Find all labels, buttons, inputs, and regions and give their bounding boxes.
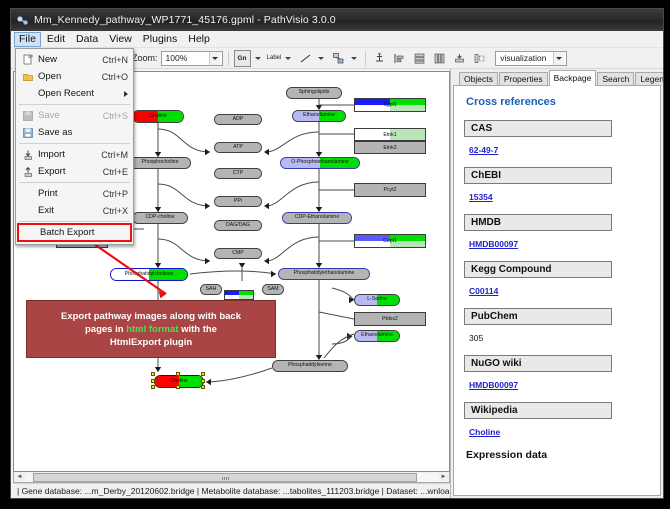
menu-item-label: Batch Export (40, 227, 126, 238)
xref-link[interactable]: Choline (469, 427, 500, 437)
menu-item-accelerator: Ctrl+O (102, 72, 133, 82)
menu-item-accelerator: Ctrl+N (102, 55, 133, 65)
backpage-content: Cross references CAS62-49-7ChEBI15354HMD… (454, 86, 660, 495)
xref-entry: PubChem305 (464, 308, 660, 346)
tab-search[interactable]: Search (597, 72, 634, 86)
save-as-icon (18, 127, 38, 139)
expression-data-title: Expression data (466, 449, 660, 461)
file-menu-item-save-as[interactable]: Save as (16, 124, 133, 141)
file-menu-item-import[interactable]: ImportCtrl+M (16, 146, 133, 163)
align-columns-tool-icon[interactable] (431, 50, 448, 67)
menu-separator (19, 104, 130, 105)
scroll-left-icon[interactable]: ◄ (14, 473, 25, 482)
scroll-right-icon[interactable]: ► (438, 473, 449, 482)
visualization-value: visualization (500, 53, 553, 63)
visualization-combo[interactable]: visualization (495, 51, 567, 66)
chevron-down-icon[interactable] (318, 57, 324, 60)
zoom-combo[interactable]: 100% (161, 51, 223, 66)
xref-source-label: CAS (464, 120, 612, 137)
hscroll-track[interactable] (25, 473, 438, 482)
menu-item-label: Export (38, 166, 103, 177)
file-menu-item-export[interactable]: ExportCtrl+E (16, 163, 133, 180)
chevron-down-icon[interactable] (285, 57, 291, 60)
file-menu-item-exit[interactable]: ExitCtrl+X (16, 202, 133, 219)
status-text: | Gene database: ...m_Derby_20120602.bri… (17, 486, 450, 496)
file-menu-item-open-recent[interactable]: Open Recent (16, 85, 133, 102)
label-tool[interactable]: Label (267, 55, 295, 61)
window-title: Mm_Kennedy_pathway_WP1771_45176.gpml - P… (34, 14, 336, 26)
align-rows-tool-icon[interactable] (411, 50, 428, 67)
xref-link[interactable]: 15354 (469, 192, 493, 202)
status-bar: | Gene database: ...m_Derby_20120602.bri… (13, 483, 450, 498)
menu-separator (19, 182, 130, 183)
menu-item-label: New (38, 54, 102, 65)
export-icon (18, 166, 38, 178)
shape-icon[interactable] (330, 50, 347, 67)
shape-tool[interactable] (330, 50, 360, 67)
save-icon (18, 110, 38, 122)
chevron-right-icon (124, 91, 128, 97)
xref-link[interactable]: C00114 (469, 286, 498, 296)
menu-item-label: Open (38, 71, 102, 82)
xref-entry: ChEBI15354 (464, 167, 660, 205)
pathvisio-icon (16, 14, 29, 27)
menu-item-accelerator: Ctrl+X (103, 206, 133, 216)
line-tool[interactable] (297, 50, 327, 67)
tab-properties[interactable]: Properties (499, 72, 548, 86)
menu-edit[interactable]: Edit (42, 32, 70, 47)
menu-item-accelerator: Ctrl+S (103, 111, 133, 121)
xref-entry: Kegg CompoundC00114 (464, 261, 660, 299)
file-menu-dropdown[interactable]: NewCtrl+NOpenCtrl+OOpen RecentSaveCtrl+S… (15, 48, 134, 245)
hscroll-thumb[interactable] (33, 473, 417, 482)
xref-entry: CAS62-49-7 (464, 120, 660, 158)
menu-data[interactable]: Data (71, 32, 103, 47)
xref-link[interactable]: HMDB00097 (469, 239, 518, 249)
tab-backpage[interactable]: Backpage (549, 70, 597, 86)
gene-product-tool[interactable]: Gn (234, 50, 264, 67)
xref-link[interactable]: HMDB00097 (469, 380, 518, 390)
menu-help[interactable]: Help (183, 32, 215, 47)
file-menu-item-open[interactable]: OpenCtrl+O (16, 68, 133, 85)
gene-product-icon[interactable]: Gn (234, 50, 251, 67)
anchor-tool-icon[interactable] (371, 50, 388, 67)
import-icon (18, 149, 38, 161)
xref-source-label: PubChem (464, 308, 612, 325)
new-file-icon (18, 54, 38, 66)
menu-item-accelerator: Ctrl+M (101, 150, 133, 160)
tab-objects[interactable]: Objects (459, 72, 498, 86)
title-bar: Mm_Kennedy_pathway_WP1771_45176.gpml - P… (11, 9, 663, 31)
menu-separator (19, 221, 130, 222)
chevron-down-icon[interactable] (351, 57, 357, 60)
xref-entry: HMDBHMDB00097 (464, 214, 660, 252)
cross-reference-list: CAS62-49-7ChEBI15354HMDBHMDB00097Kegg Co… (464, 120, 660, 440)
label-tool-text: Label (267, 55, 282, 61)
xref-source-label: HMDB (464, 214, 612, 231)
xref-source-label: ChEBI (464, 167, 612, 184)
xref-source-label: NuGO wiki (464, 355, 612, 372)
menu-item-label: Import (38, 149, 101, 160)
menu-view[interactable]: View (104, 32, 137, 47)
menu-item-label: Save as (38, 127, 128, 138)
align-left-tool-icon[interactable] (391, 50, 408, 67)
xref-entry: NuGO wikiHMDB00097 (464, 355, 660, 393)
chevron-down-icon[interactable] (255, 57, 261, 60)
side-panel-tabs: Objects Properties Backpage Search Legen… (453, 71, 661, 86)
zoom-value: 100% (166, 53, 209, 63)
zoom-label: Zoom: (132, 53, 158, 63)
menu-item-accelerator: Ctrl+E (103, 167, 133, 177)
menu-item-label: Open Recent (38, 88, 128, 99)
xref-link[interactable]: 62-49-7 (469, 145, 498, 155)
menu-item-accelerator: Ctrl+P (103, 189, 133, 199)
menu-item-label: Save (38, 110, 103, 121)
stack-tool-icon[interactable] (451, 50, 468, 67)
pathvisio-window: Mm_Kennedy_pathway_WP1771_45176.gpml - P… (10, 8, 664, 499)
menu-plugins[interactable]: Plugins (138, 32, 182, 47)
xref-source-label: Wikipedia (464, 402, 612, 419)
xref-value: 305 (469, 333, 483, 343)
xref-entry: WikipediaCholine (464, 402, 660, 440)
menu-file[interactable]: File (14, 32, 41, 47)
open-folder-icon (18, 71, 38, 83)
chevron-down-icon[interactable] (553, 52, 564, 65)
file-menu-item-batch-export[interactable]: Batch Export (18, 224, 131, 241)
file-menu-item-print[interactable]: PrintCtrl+P (16, 185, 133, 202)
tab-legend[interactable]: Legend (635, 72, 664, 86)
xref-source-label: Kegg Compound (464, 261, 612, 278)
menu-bar: File Edit Data View Plugins Help (11, 31, 663, 48)
canvas-hscrollbar[interactable]: ◄ ► (13, 472, 450, 483)
group-tool-icon[interactable] (471, 50, 488, 67)
screenshot-frame: Mm_Kennedy_pathway_WP1771_45176.gpml - P… (0, 0, 670, 509)
menu-separator (19, 143, 130, 144)
side-panel: Objects Properties Backpage Search Legen… (451, 69, 663, 498)
file-menu-item-save: SaveCtrl+S (16, 107, 133, 124)
menu-item-label: Print (38, 188, 103, 199)
menu-item-label: Exit (38, 205, 103, 216)
chevron-down-icon[interactable] (209, 52, 220, 65)
backpage-pane: Cross references CAS62-49-7ChEBI15354HMD… (453, 85, 661, 496)
file-menu-item-new[interactable]: NewCtrl+N (16, 51, 133, 68)
line-icon[interactable] (297, 50, 314, 67)
cross-references-title: Cross references (466, 96, 660, 108)
